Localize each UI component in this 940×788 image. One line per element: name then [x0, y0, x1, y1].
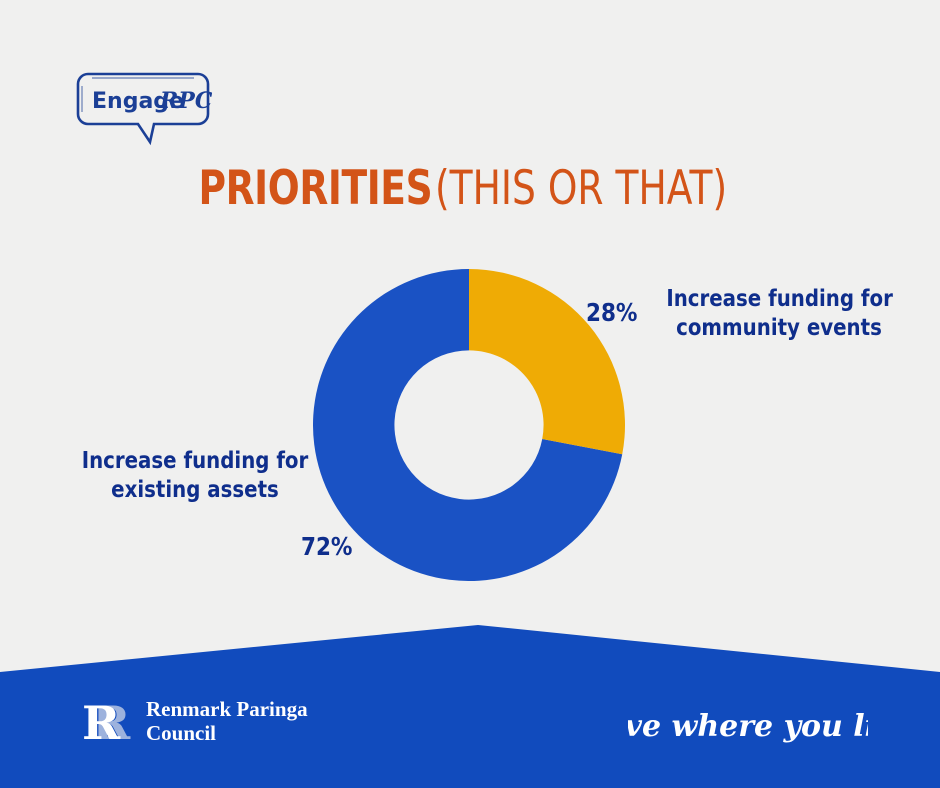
donut-slice-community-events	[469, 269, 625, 454]
donut-percent-right: 28%	[586, 298, 637, 327]
logo-word-rpc: RPC	[159, 88, 212, 114]
donut-label-existing-assets-line1: Increase funding for	[69, 447, 322, 476]
infographic-canvas: Engage RPC PRIORITIES(THIS OR THAT) 28% …	[0, 0, 940, 788]
donut-chart	[313, 269, 625, 581]
donut-label-existing-assets-line2: existing assets	[69, 476, 322, 505]
council-r-monogram-icon: R R	[78, 695, 132, 749]
footer-tagline: Love where you live	[628, 694, 868, 754]
donut-label-community-events-line1: Increase funding for	[666, 285, 891, 314]
council-name-line2: Council	[146, 722, 308, 746]
renmark-paringa-council-logo: R R Renmark Paringa Council	[78, 692, 308, 752]
page-title: PRIORITIES(THIS OR THAT)	[0, 165, 940, 212]
svg-text:R: R	[82, 696, 121, 749]
council-name-line1: Renmark Paringa	[146, 698, 308, 722]
engage-rpc-logo: Engage RPC	[74, 66, 212, 150]
footer-tagline-text: Love where you live	[628, 709, 868, 744]
council-name: Renmark Paringa Council	[146, 698, 308, 745]
donut-label-community-events-line2: community events	[666, 314, 891, 343]
donut-label-existing-assets: Increase funding for existing assets	[48, 447, 342, 505]
page-title-light: (THIS OR THAT)	[435, 165, 727, 212]
donut-percent-left: 72%	[301, 532, 352, 561]
footer-content: R R Renmark Paringa Council Love where y…	[0, 672, 940, 788]
donut-label-community-events: Increase funding for community events	[648, 285, 910, 343]
page-title-strong: PRIORITIES	[199, 165, 433, 212]
